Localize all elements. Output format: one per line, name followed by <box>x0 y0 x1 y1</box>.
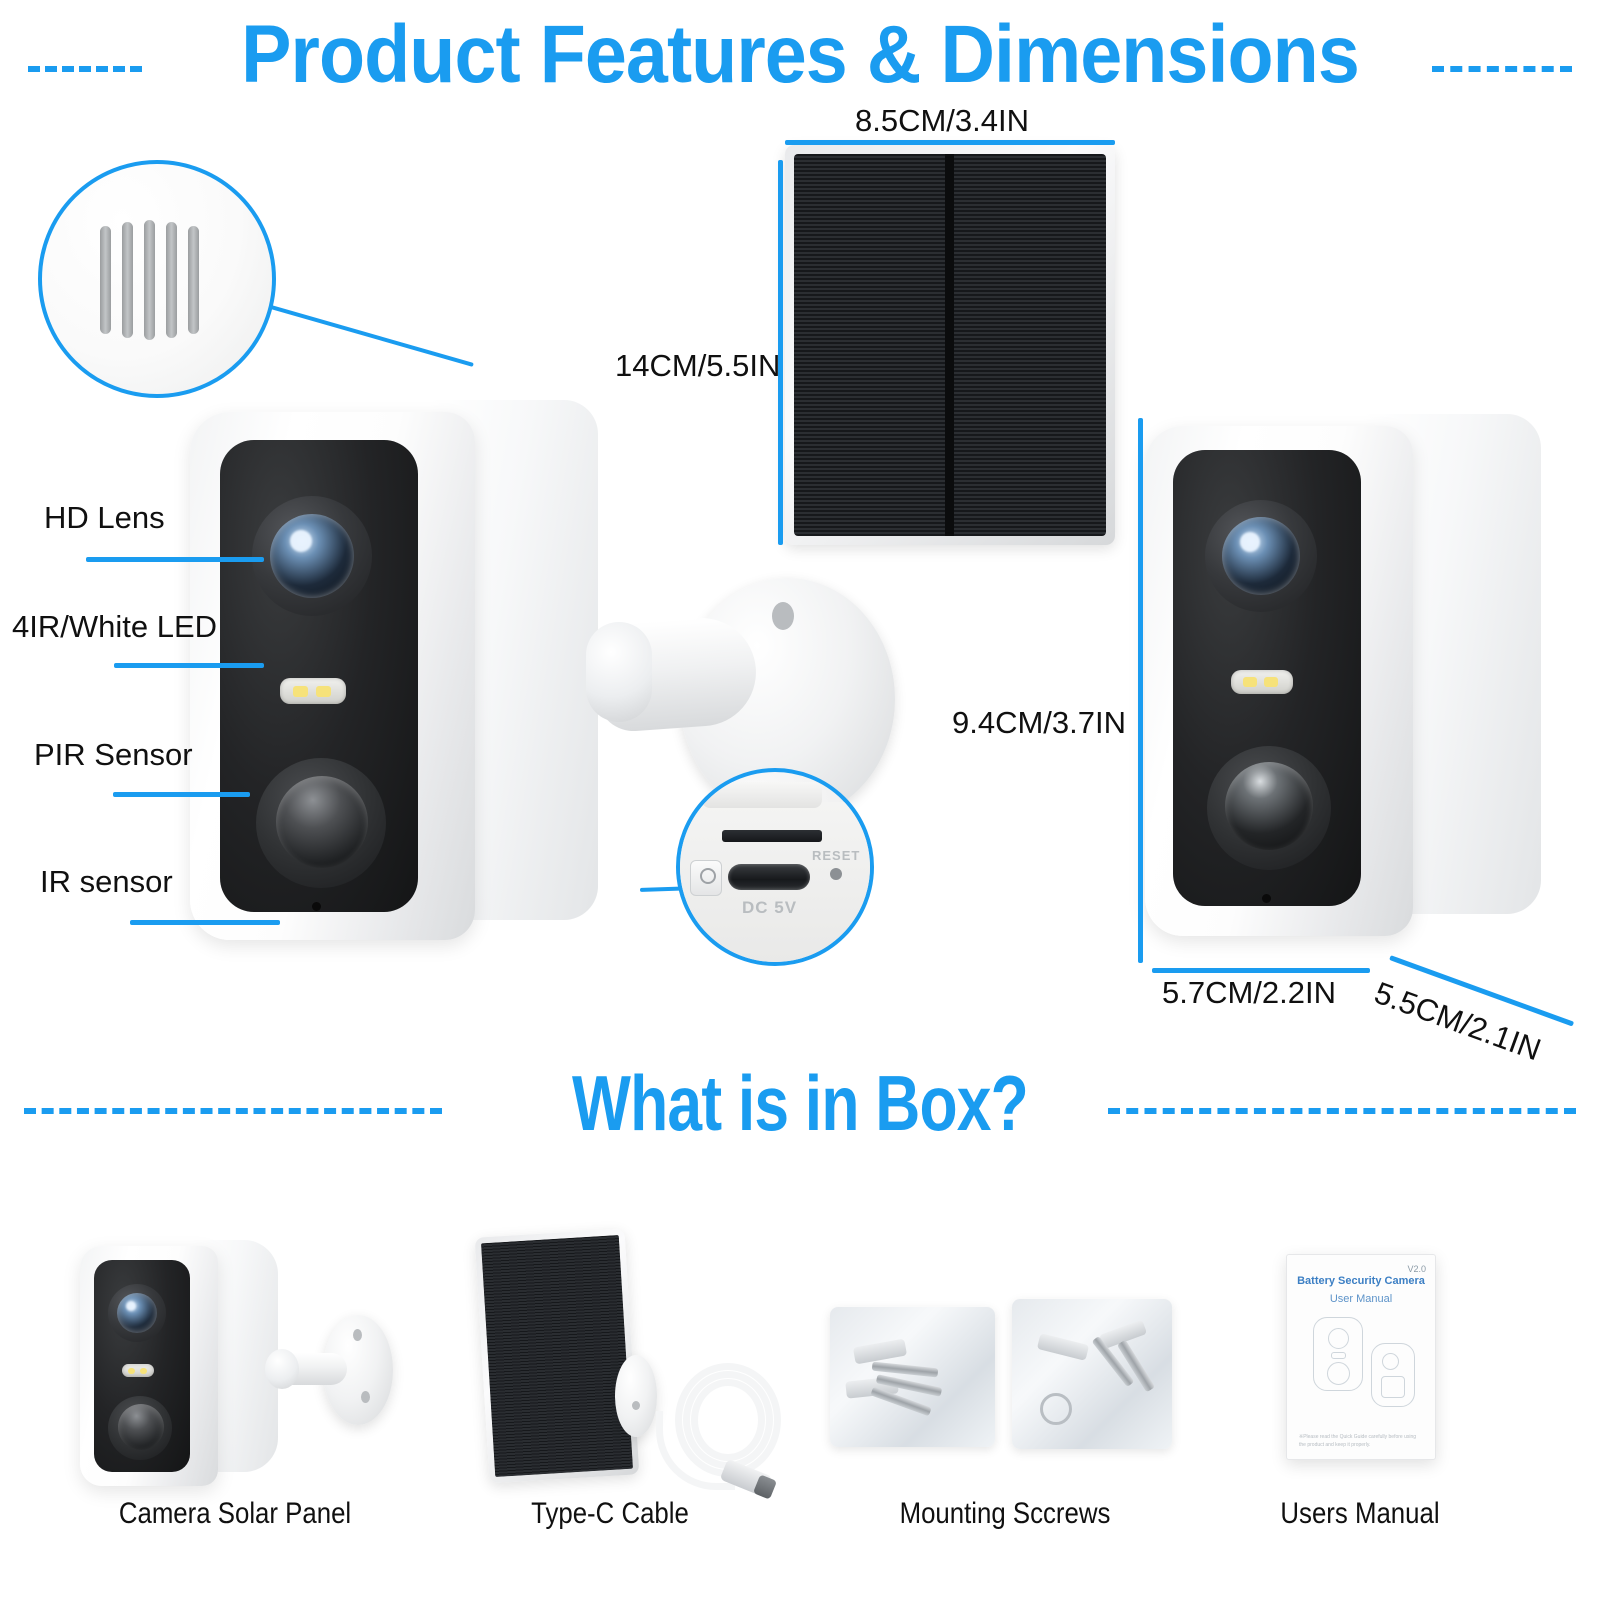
caption-type-c-cable: Type-C Cable <box>455 1497 765 1531</box>
bracket-screw-hole <box>361 1391 370 1403</box>
speaker-grille-zoom-circle <box>38 160 276 398</box>
bracket-ball-joint <box>265 1349 299 1389</box>
camera-width-text: 5.7CM/2.2IN <box>1162 975 1336 1011</box>
screws-bag <box>1012 1299 1172 1449</box>
reset-pinhole <box>830 868 842 880</box>
camera-lens-glass <box>117 1293 157 1333</box>
caption-users-manual: Users Manual <box>1205 1497 1515 1531</box>
diagram-lens <box>1382 1353 1399 1370</box>
camera-led-dot <box>293 686 308 697</box>
grille-slot <box>100 226 111 334</box>
manual-footer-note: ※Please read the Quick Guide carefully b… <box>1299 1434 1423 1449</box>
box-item-users-manual: V2.0 Battery Security Camera User Manual… <box>1286 1254 1436 1460</box>
callout-line-ir-white-led <box>114 663 264 668</box>
page-title-box: What is in Box? <box>160 1058 1440 1149</box>
manual-version: V2.0 <box>1407 1264 1426 1274</box>
camera-depth-text: 5.5CM/2.1IN <box>1370 975 1546 1068</box>
grille-slot <box>122 222 133 338</box>
diagram-led <box>1331 1352 1346 1359</box>
box-item-type-c-cable <box>460 1215 800 1495</box>
bracket-screw-hole <box>353 1329 362 1341</box>
microsd-slot <box>722 830 822 842</box>
port-detail-zoom-circle: RESET DC 5V <box>676 768 874 966</box>
reset-label: RESET <box>812 848 860 863</box>
callout-line-pir-sensor <box>113 792 250 797</box>
solar-panel-render <box>785 145 1115 545</box>
manual-front-diagram <box>1313 1317 1363 1391</box>
box-bracket <box>265 1315 395 1430</box>
solar-height-text: 14CM/5.5IN <box>615 348 780 384</box>
grille-slot <box>144 220 155 340</box>
wall-anchor <box>1037 1333 1089 1361</box>
camera-ir-sensor-dot <box>1262 894 1271 903</box>
bracket-screw-hole <box>772 602 794 630</box>
camera-lens-highlight <box>290 530 312 552</box>
camera-pir-dome <box>1225 762 1313 850</box>
bracket-ball-joint <box>586 622 652 722</box>
box-item-camera-solar-panel <box>60 1220 400 1490</box>
mount-screw-hole <box>632 1401 640 1410</box>
callout-label-ir-sensor: IR sensor <box>40 864 173 900</box>
power-icon <box>700 868 716 884</box>
solar-width-text: 8.5CM/3.4IN <box>855 103 1029 139</box>
camera-led-dot <box>1264 677 1278 687</box>
diagram-pir <box>1327 1362 1350 1385</box>
wall-anchor <box>853 1339 907 1365</box>
callout-line-hd-lens <box>86 557 264 562</box>
callout-line-ir-sensor <box>130 920 280 925</box>
camera-led-bar <box>122 1364 154 1377</box>
manual-title: Battery Security Camera <box>1287 1275 1435 1287</box>
camera-led-dot <box>140 1368 147 1374</box>
screws-bag <box>830 1307 995 1447</box>
camera-ir-sensor-dot <box>312 902 321 911</box>
caption-camera-solar-panel: Camera Solar Panel <box>80 1497 390 1531</box>
diagram-battery <box>1381 1376 1405 1398</box>
camera-led-bar <box>1231 670 1293 694</box>
solar-panel-cells <box>481 1235 633 1477</box>
diagram-lens <box>1328 1328 1349 1349</box>
camera-led-dot <box>316 686 331 697</box>
grille-slot <box>188 226 199 334</box>
camera-lens-highlight <box>1240 532 1260 552</box>
camera-height-text: 9.4CM/3.7IN <box>952 705 1126 741</box>
usb-c-port <box>728 864 810 890</box>
camera-led-dot <box>128 1368 135 1374</box>
camera-lens-glass <box>1222 517 1300 595</box>
manual-back-diagram <box>1371 1343 1415 1407</box>
box-camera-render <box>80 1232 280 1490</box>
camera-lens-highlight <box>126 1301 136 1311</box>
box-item-mounting-screws <box>820 1285 1190 1505</box>
grille-slot <box>166 222 177 338</box>
box-solar-panel <box>475 1229 640 1484</box>
camera-height-rule <box>1138 418 1143 963</box>
split-ring <box>1040 1393 1072 1425</box>
camera-pir-dome <box>118 1404 164 1450</box>
grille-leader-line <box>256 301 473 367</box>
camera-led-dot <box>1243 677 1257 687</box>
callout-label-hd-lens: HD Lens <box>44 500 165 536</box>
solar-panel-mount <box>615 1355 657 1437</box>
camera-pir-dome <box>276 776 368 868</box>
solar-panel-busbar <box>945 154 954 536</box>
camera-width-rule <box>1152 968 1370 973</box>
page-title-features: Product Features & Dimensions <box>64 8 1536 102</box>
manual-subtitle: User Manual <box>1287 1293 1435 1305</box>
camera-led-bar <box>280 678 346 704</box>
camera-lens-glass <box>270 514 354 598</box>
dc-label: DC 5V <box>742 898 797 918</box>
callout-label-pir-sensor: PIR Sensor <box>34 737 193 773</box>
port-cover-flap <box>702 782 822 808</box>
callout-label-ir-white-led: 4IR/White LED <box>12 609 217 645</box>
solar-width-rule <box>785 140 1115 145</box>
dimension-camera-render <box>1145 398 1535 943</box>
caption-mounting-screws: Mounting Sccrews <box>850 1497 1160 1531</box>
